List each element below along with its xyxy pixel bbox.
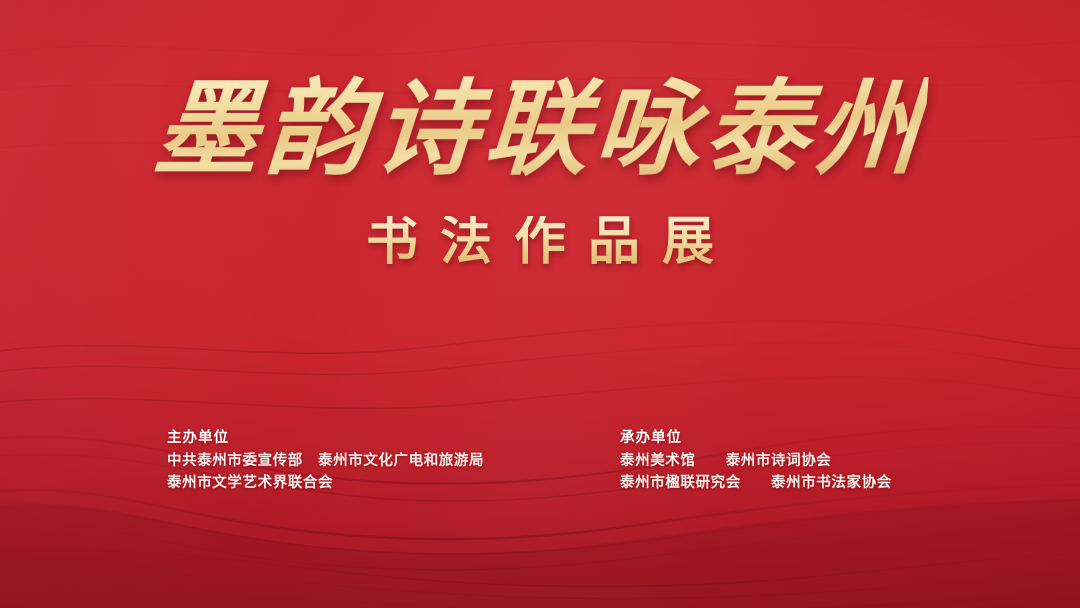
organizers-heading: 主办单位	[167, 428, 484, 448]
poster-canvas: 墨韵诗联咏泰州 书法作品展 主办单位 中共泰州市委宣传部 泰州市文化广电和旅游局…	[0, 0, 1080, 608]
organizers-block: 主办单位 中共泰州市委宣传部 泰州市文化广电和旅游局 泰州市文学艺术界联合会	[167, 428, 484, 494]
co-organizers-line-2: 泰州市楹联研究会 泰州市书法家协会	[620, 472, 892, 494]
organizers-line-2: 泰州市文学艺术界联合会	[167, 472, 484, 494]
organizers-line-1: 中共泰州市委宣传部 泰州市文化广电和旅游局	[167, 450, 484, 472]
subtitle-container: 书法作品展	[0, 216, 1080, 268]
page-subtitle: 书法作品展	[344, 216, 736, 268]
page-title: 墨韵诗联咏泰州	[151, 74, 929, 183]
credits-section: 主办单位 中共泰州市委宣传部 泰州市文化广电和旅游局 泰州市文学艺术界联合会 承…	[0, 428, 1080, 518]
title-container: 墨韵诗联咏泰州	[0, 74, 1080, 183]
co-organizers-line-1: 泰州美术馆 泰州市诗词协会	[620, 450, 892, 472]
co-organizers-heading: 承办单位	[620, 428, 892, 448]
co-organizers-block: 承办单位 泰州美术馆 泰州市诗词协会 泰州市楹联研究会 泰州市书法家协会	[620, 428, 892, 494]
